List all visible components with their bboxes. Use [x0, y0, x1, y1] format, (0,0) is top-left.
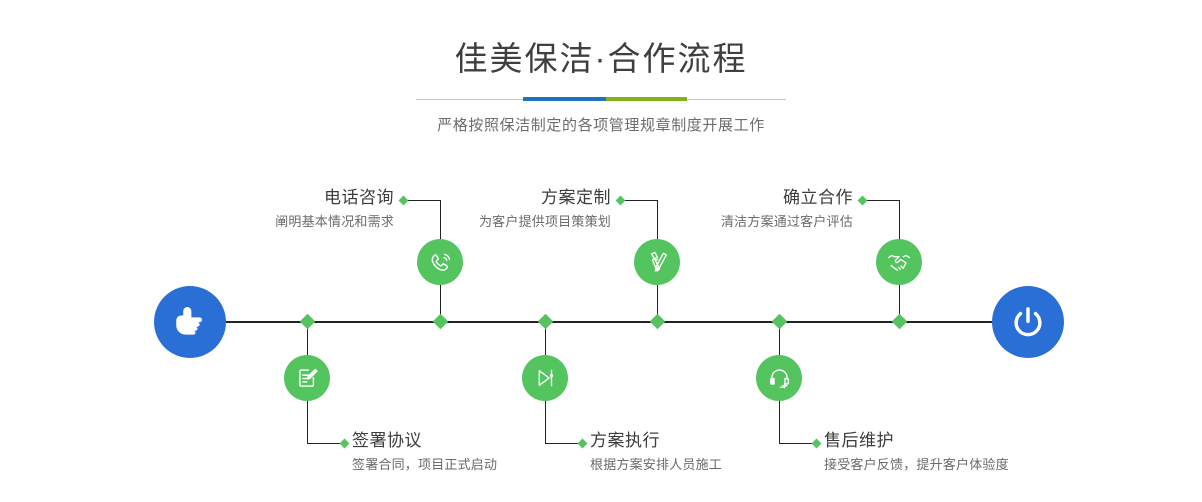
step-5-subtitle: 清洁方案通过客户评估 [721, 212, 853, 232]
step-6-subtitle: 接受客户反馈，提升客户体验度 [824, 455, 1009, 475]
flow-start-node [154, 286, 226, 358]
step-3-title: 方案定制 [479, 186, 611, 210]
connector-horizontal-step-1 [404, 200, 441, 201]
step-6-icon-badge [756, 355, 802, 401]
pencil-ruler-icon [644, 249, 671, 276]
step-3-icon-badge [634, 239, 680, 285]
flow-end-node [992, 286, 1064, 358]
timeline-marker-step-1 [433, 314, 449, 330]
timeline: 电话咨询 阐明基本情况和需求 签署协议 签署合同，项目正式启动 [0, 0, 1202, 502]
cooperation-flow-infographic: 佳美保洁·合作流程 严格按照保洁制定的各项管理规章制度开展工作 [0, 0, 1202, 502]
step-3-subtitle: 为客户提供项目策策划 [479, 212, 611, 232]
step-4-title: 方案执行 [590, 429, 722, 453]
label-marker-step-4 [578, 439, 588, 449]
timeline-marker-step-5 [892, 314, 908, 330]
step-4-icon-badge [522, 355, 568, 401]
label-marker-step-5 [858, 196, 868, 206]
label-marker-step-3 [616, 196, 626, 206]
step-5-title: 确立合作 [721, 186, 853, 210]
label-marker-step-2 [340, 439, 350, 449]
step-6-label: 售后维护 接受客户反馈，提升客户体验度 [824, 429, 1009, 475]
document-sign-icon [294, 365, 321, 392]
step-2-label: 签署协议 签署合同，项目正式启动 [352, 429, 497, 475]
step-2-title: 签署协议 [352, 429, 497, 453]
play-skip-icon [532, 365, 558, 391]
connector-horizontal-step-5 [863, 200, 900, 201]
step-5-label: 确立合作 清洁方案通过客户评估 [721, 186, 853, 232]
phone-call-icon [427, 249, 454, 276]
timeline-marker-step-4 [538, 314, 554, 330]
timeline-marker-step-3 [650, 314, 666, 330]
power-icon [1008, 302, 1048, 342]
connector-horizontal-step-3 [621, 200, 658, 201]
label-marker-step-1 [399, 196, 409, 206]
step-1-label: 电话咨询 阐明基本情况和需求 [275, 186, 394, 232]
step-1-subtitle: 阐明基本情况和需求 [275, 212, 394, 232]
timeline-marker-step-6 [772, 314, 788, 330]
step-1-icon-badge [417, 239, 463, 285]
timeline-axis [158, 321, 1044, 323]
step-4-subtitle: 根据方案安排人员施工 [590, 455, 722, 475]
pointing-hand-icon [170, 302, 210, 342]
step-2-icon-badge [284, 355, 330, 401]
step-3-label: 方案定制 为客户提供项目策策划 [479, 186, 611, 232]
step-1-title: 电话咨询 [275, 186, 394, 210]
timeline-marker-step-2 [300, 314, 316, 330]
headset-support-icon [766, 365, 793, 392]
step-4-label: 方案执行 根据方案安排人员施工 [590, 429, 722, 475]
step-5-icon-badge [876, 239, 922, 285]
step-6-title: 售后维护 [824, 429, 1009, 453]
handshake-icon [885, 248, 913, 276]
label-marker-step-6 [812, 439, 822, 449]
step-2-subtitle: 签署合同，项目正式启动 [352, 455, 497, 475]
